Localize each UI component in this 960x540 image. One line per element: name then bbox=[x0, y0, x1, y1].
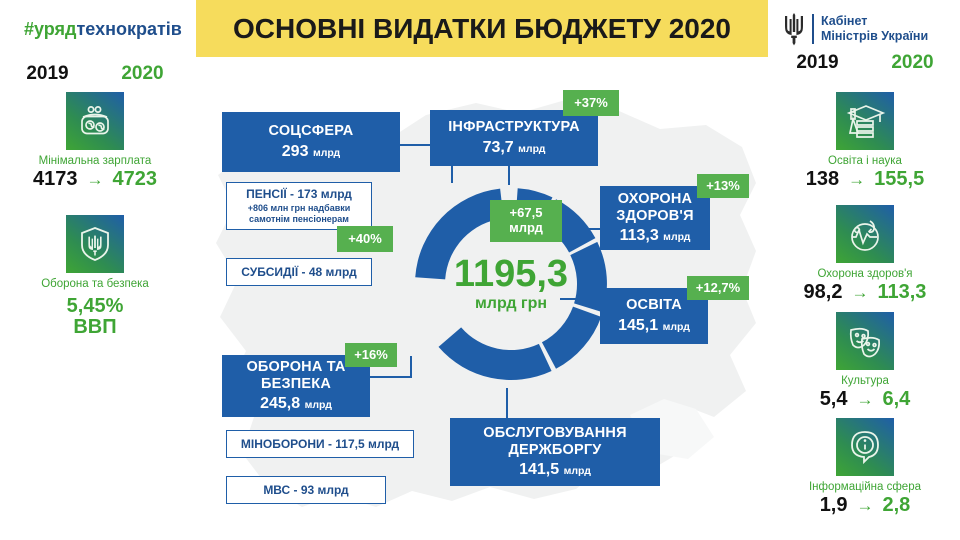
box-pensions-sub2: самотнім пенсіонерам bbox=[249, 214, 349, 224]
box-health[interactable]: ОХОРОНА ЗДОРОВ'Я 113,3 млрд bbox=[600, 186, 710, 250]
graduation-microscope-icon bbox=[836, 92, 894, 150]
theatre-masks-icon bbox=[836, 312, 894, 370]
right-year-header: 2019 2020 bbox=[770, 52, 960, 74]
infographic-root: ОСНОВНІ ВИДАТКИ БЮДЖЕТУ 2020 #урядтехнок… bbox=[0, 0, 960, 540]
budget-total-value: 1195,3 bbox=[454, 255, 568, 293]
right-item-culture: Культура 5,4 → 6,4 bbox=[770, 312, 960, 411]
left-sidebar: 2019 2020 Міні bbox=[0, 0, 190, 540]
box-debt-service-value: 141,5 млрд bbox=[519, 461, 591, 479]
badge-education-growth: +12,7% bbox=[687, 276, 749, 300]
box-ministry-of-internal-affairs[interactable]: МВС - 93 млрд bbox=[226, 476, 386, 504]
badge-total-growth-line2: млрд bbox=[509, 221, 543, 236]
health-pulse-icon bbox=[836, 205, 894, 263]
left-year-header: 2019 2020 bbox=[0, 63, 190, 85]
right-item-culture-values: 5,4 → 6,4 bbox=[770, 388, 960, 411]
right-item-information-caption: Інформаційна сфера bbox=[770, 481, 960, 493]
right-item-education-new: 155,5 bbox=[874, 168, 924, 191]
page-title: ОСНОВНІ ВИДАТКИ БЮДЖЕТУ 2020 bbox=[233, 13, 731, 45]
badge-socsphere-growth: +40% bbox=[337, 226, 393, 252]
box-socsphere-title: СОЦСФЕРА bbox=[269, 123, 354, 139]
box-infrastructure[interactable]: ІНФРАСТРУКТУРА 73,7 млрд bbox=[430, 110, 598, 166]
badge-total-growth-line1: +67,5 bbox=[510, 206, 543, 221]
connector-debt bbox=[506, 388, 508, 418]
box-debt-service-title2: ДЕРЖБОРГУ bbox=[509, 442, 602, 458]
badge-defense-growth: +16% bbox=[345, 343, 397, 367]
arrow-right-icon: → bbox=[87, 171, 104, 188]
right-item-culture-new: 6,4 bbox=[883, 388, 911, 411]
budget-total-unit: млрд грн bbox=[475, 295, 547, 313]
right-item-information-old: 1,9 bbox=[820, 494, 848, 517]
left-item-defense-gdp-percent: 5,45% bbox=[0, 296, 190, 317]
right-item-information-values: 1,9 → 2,8 bbox=[770, 494, 960, 517]
right-item-information: Інформаційна сфера 1,9 → 2,8 bbox=[770, 418, 960, 517]
left-item-minimum-wage: Мінімальна зарплата 4173 → 4723 bbox=[0, 92, 190, 191]
left-item-defense-gdp-caption: Оборона та безпека bbox=[0, 278, 190, 290]
right-item-education-values: 138 → 155,5 bbox=[770, 168, 960, 191]
box-ministry-of-defense-main: МІНОБОРОНИ - 117,5 млрд bbox=[241, 437, 399, 451]
left-item-minimum-wage-old: 4173 bbox=[33, 168, 78, 191]
box-ministry-of-internal-affairs-main: МВС - 93 млрд bbox=[263, 483, 348, 497]
information-icon bbox=[836, 418, 894, 476]
shield-trident-icon bbox=[66, 215, 124, 273]
box-health-title2: ЗДОРОВ'Я bbox=[616, 208, 693, 224]
box-defense-title2: БЕЗПЕКА bbox=[261, 376, 331, 392]
right-item-health-old: 98,2 bbox=[804, 281, 843, 304]
right-year-new: 2020 bbox=[891, 52, 933, 74]
right-item-health: Охорона здоров'я 98,2 → 113,3 bbox=[770, 205, 960, 304]
box-debt-service-title1: ОБСЛУГОВУВАННЯ bbox=[483, 425, 626, 441]
right-item-education: Освіта і наука 138 → 155,5 bbox=[770, 92, 960, 191]
right-item-health-new: 113,3 bbox=[877, 281, 926, 304]
left-item-minimum-wage-new: 4723 bbox=[113, 168, 158, 191]
box-infrastructure-value: 73,7 млрд bbox=[483, 139, 546, 157]
arrow-right-icon: → bbox=[857, 497, 874, 514]
badge-health-growth: +13% bbox=[697, 174, 749, 198]
badge-infrastructure-growth: +37% bbox=[563, 90, 619, 116]
box-pensions-sub: +806 млн грн надбавки самотнім пенсіонер… bbox=[248, 203, 351, 224]
box-socsphere[interactable]: СОЦСФЕРА 293 млрд bbox=[222, 112, 400, 172]
wallet-icon bbox=[66, 92, 124, 150]
arrow-right-icon: → bbox=[851, 284, 868, 301]
box-defense-title1: ОБОРОНА ТА bbox=[246, 359, 345, 375]
box-pensions-sub1: +806 млн грн надбавки bbox=[248, 203, 351, 213]
left-item-defense-gdp-unit: ВВП bbox=[0, 317, 190, 338]
header-banner: ОСНОВНІ ВИДАТКИ БЮДЖЕТУ 2020 bbox=[196, 0, 768, 57]
box-health-title1: ОХОРОНА bbox=[618, 191, 692, 207]
right-item-education-old: 138 bbox=[806, 168, 839, 191]
right-item-information-new: 2,8 bbox=[883, 494, 911, 517]
left-item-minimum-wage-values: 4173 → 4723 bbox=[0, 168, 190, 191]
right-year-old: 2019 bbox=[796, 52, 838, 74]
box-infrastructure-title: ІНФРАСТРУКТУРА bbox=[448, 119, 580, 135]
left-item-defense-gdp-values: 5,45% ВВП bbox=[0, 296, 190, 338]
left-item-minimum-wage-caption: Мінімальна зарплата bbox=[0, 155, 190, 167]
box-debt-service[interactable]: ОБСЛУГОВУВАННЯ ДЕРЖБОРГУ 141,5 млрд bbox=[450, 418, 660, 486]
right-item-education-caption: Освіта і наука bbox=[770, 155, 960, 167]
arrow-right-icon: → bbox=[848, 171, 865, 188]
box-socsphere-value: 293 млрд bbox=[282, 143, 340, 161]
box-health-value: 113,3 млрд bbox=[620, 227, 691, 245]
right-item-health-values: 98,2 → 113,3 bbox=[770, 281, 960, 304]
badge-total-growth: +67,5 млрд bbox=[490, 200, 562, 242]
left-item-defense-gdp: Оборона та безпека 5,45% ВВП bbox=[0, 215, 190, 338]
box-subsidies[interactable]: СУБСИДІЇ - 48 млрд bbox=[226, 258, 372, 286]
left-year-old: 2019 bbox=[26, 63, 68, 85]
box-ministry-of-defense[interactable]: МІНОБОРОНИ - 117,5 млрд bbox=[226, 430, 414, 458]
right-item-culture-caption: Культура bbox=[770, 375, 960, 387]
left-year-new: 2020 bbox=[121, 63, 163, 85]
box-defense-value: 245,8 млрд bbox=[260, 395, 332, 413]
right-sidebar: 2019 2020 Освіта і наука bbox=[770, 0, 960, 540]
right-item-health-caption: Охорона здоров'я bbox=[770, 268, 960, 280]
box-pensions-main: ПЕНСІЇ - 173 млрд bbox=[246, 187, 352, 201]
box-pensions[interactable]: ПЕНСІЇ - 173 млрд +806 млн грн надбавки … bbox=[226, 182, 372, 230]
box-education-value: 145,1 млрд bbox=[618, 317, 690, 335]
right-item-culture-old: 5,4 bbox=[820, 388, 848, 411]
box-subsidies-main: СУБСИДІЇ - 48 млрд bbox=[241, 265, 356, 279]
box-education-title: ОСВІТА bbox=[626, 297, 682, 313]
arrow-right-icon: → bbox=[857, 391, 874, 408]
